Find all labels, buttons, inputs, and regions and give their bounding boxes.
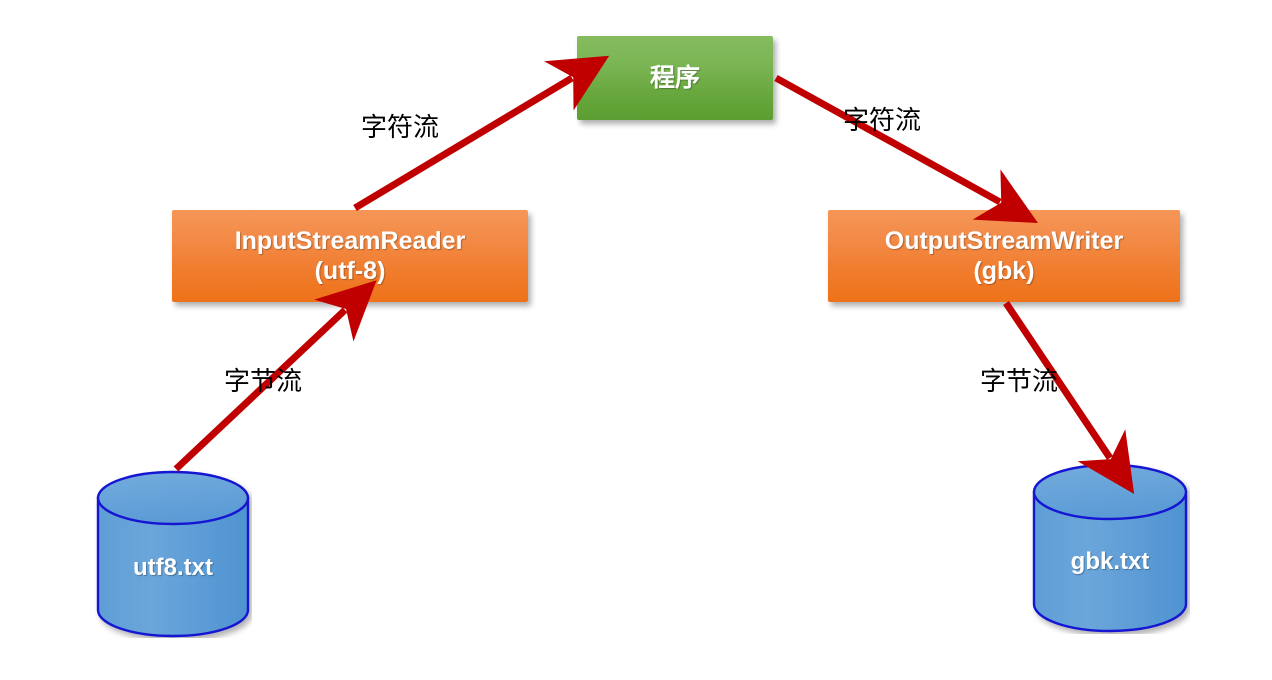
edge-label-writer-to-file: 字节流 bbox=[980, 361, 1058, 398]
arrow-program-to-writer bbox=[776, 78, 1000, 202]
edge-label-reader-to-program: 字符流 bbox=[361, 107, 439, 144]
arrow-layer bbox=[0, 0, 1272, 680]
edge-label-file-to-reader: 字节流 bbox=[224, 361, 302, 398]
diagram-canvas: 程序 InputStreamReader (utf-8) OutputStrea… bbox=[0, 0, 1272, 680]
edge-label-program-to-writer: 字符流 bbox=[843, 100, 921, 137]
